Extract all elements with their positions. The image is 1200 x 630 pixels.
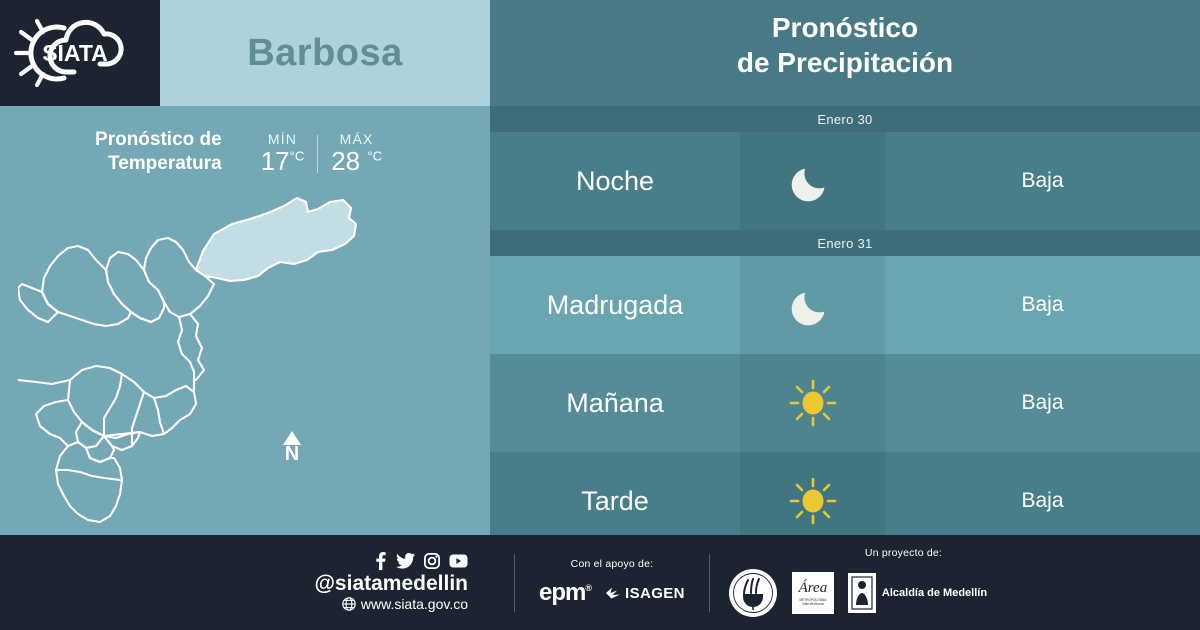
map-divider-h [56, 470, 120, 480]
weather-icon-cell [740, 256, 885, 354]
max-unit: °C [367, 148, 382, 163]
website-line[interactable]: www.siata.gov.co [342, 596, 468, 613]
map-panel: Pronóstico de Temperatura MÍN 17°C MÁX 2… [0, 106, 490, 535]
amva-subtext: METROPOLITANAValle de Aburrá [799, 598, 826, 606]
period-label: Madrugada [490, 256, 740, 354]
table-row: Mañana Baja [490, 354, 1200, 452]
temperature-title-line1: Pronóstico de [95, 128, 222, 152]
period-label: Noche [490, 132, 740, 230]
footer-social: @siatamedellin www.siata.gov.co [0, 552, 490, 612]
social-handle[interactable]: @siatamedellin [314, 572, 468, 596]
temperature-title: Pronóstico de Temperatura [95, 128, 222, 176]
moon-icon [791, 283, 835, 327]
map-region-barbosa [196, 198, 356, 281]
siata-wordmark: SIATA [42, 40, 108, 66]
instagram-icon[interactable] [424, 553, 440, 569]
table-row: Noche Baja [490, 132, 1200, 230]
precipitation-forecast-table: Enero 30 Noche Baja Enero 31 Madrugada B… [490, 106, 1200, 535]
website-url: www.siata.gov.co [361, 596, 468, 613]
forecast-title: Pronóstico de Precipitación [490, 11, 1200, 80]
forecast-title-line1: Pronóstico [490, 11, 1200, 46]
probability-label: Baja [885, 256, 1200, 354]
footer: @siatamedellin www.siata.gov.co Con el a… [0, 535, 1200, 630]
weather-forecast-infographic: SIATA Barbosa Pronóstico de Precipitació… [0, 0, 1200, 630]
map-divider-a [131, 312, 151, 322]
globe-icon [342, 597, 356, 611]
alcaldia-medellin-logo: Alcaldía de Medellín [848, 573, 987, 613]
map-divider-d [36, 400, 68, 446]
table-row: Madrugada Baja [490, 256, 1200, 354]
support-logos: epm® ISAGEN [539, 579, 685, 607]
epm-logo: epm® [539, 579, 591, 607]
udea-seal-icon [728, 568, 778, 618]
map-region-spine-east [190, 314, 204, 380]
weather-icon-cell [740, 354, 885, 452]
weather-icon-cell [740, 132, 885, 230]
footer-divider-2 [709, 554, 710, 612]
date-band-1: Enero 30 [490, 106, 1200, 132]
north-label: N [272, 444, 312, 464]
project-logos: Área METROPOLITANAValle de Aburrá Alcald… [728, 568, 987, 618]
map-divider-g [154, 398, 164, 434]
map-region-envigado [104, 432, 140, 450]
map-region-valley-spine [178, 317, 194, 392]
aburra-valley-map [18, 184, 478, 529]
probability-label: Baja [885, 132, 1200, 230]
header-left: SIATA Barbosa [0, 0, 490, 106]
temperature-values: MÍN 17°C MÁX 28 °C [248, 131, 395, 174]
footer-support: Con el apoyo de: epm® ISAGEN [539, 558, 685, 607]
map-divider-c [18, 380, 70, 384]
facebook-icon[interactable] [374, 552, 387, 570]
area-metropolitana-logo: Área METROPOLITANAValle de Aburrá [792, 572, 834, 614]
footer-divider [514, 554, 515, 612]
map-region-copacabana [106, 252, 164, 322]
header-right: Pronóstico de Precipitación [490, 0, 1200, 106]
city-name: Barbosa [160, 0, 490, 106]
max-label: MÁX [340, 131, 374, 147]
probability-label: Baja [885, 354, 1200, 452]
footer-project: Un proyecto de: Área METROPOLITANAValle … [728, 547, 987, 618]
temperature-max: MÁX 28 °C [318, 131, 395, 174]
min-unit: °C [290, 148, 305, 163]
twitter-icon[interactable] [396, 552, 415, 570]
map-divider-e [104, 374, 122, 436]
temperature-title-line2: Temperatura [95, 152, 222, 176]
min-value: 17 [261, 146, 290, 176]
social-icons [374, 552, 468, 570]
max-value: 28 [331, 146, 360, 176]
amva-wordmark: Área [799, 581, 828, 596]
support-caption: Con el apoyo de: [571, 558, 654, 570]
temperature-divider [317, 135, 318, 173]
sun-icon [787, 475, 839, 527]
moon-icon [791, 159, 835, 203]
date-band-2: Enero 31 [490, 230, 1200, 256]
isagen-mark-icon [605, 586, 621, 600]
isagen-logo: ISAGEN [605, 585, 685, 602]
youtube-icon[interactable] [449, 554, 468, 568]
north-arrow: N [272, 431, 312, 464]
temperature-block: Pronóstico de Temperatura MÍN 17°C MÁX 2… [0, 120, 490, 184]
map-region-northwest [18, 284, 58, 322]
project-caption: Un proyecto de: [865, 547, 942, 559]
alcaldia-mark-icon [848, 573, 876, 613]
min-value-wrap: 17°C [261, 148, 305, 174]
temperature-min: MÍN 17°C [248, 131, 318, 174]
siata-sun-cloud-icon: SIATA [12, 14, 138, 92]
alcaldia-label: Alcaldía de Medellín [882, 587, 987, 599]
sun-icon [787, 377, 839, 429]
forecast-title-line2: de Precipitación [490, 46, 1200, 81]
max-value-wrap: 28 °C [331, 148, 382, 174]
period-label: Mañana [490, 354, 740, 452]
min-label: MÍN [268, 131, 297, 147]
